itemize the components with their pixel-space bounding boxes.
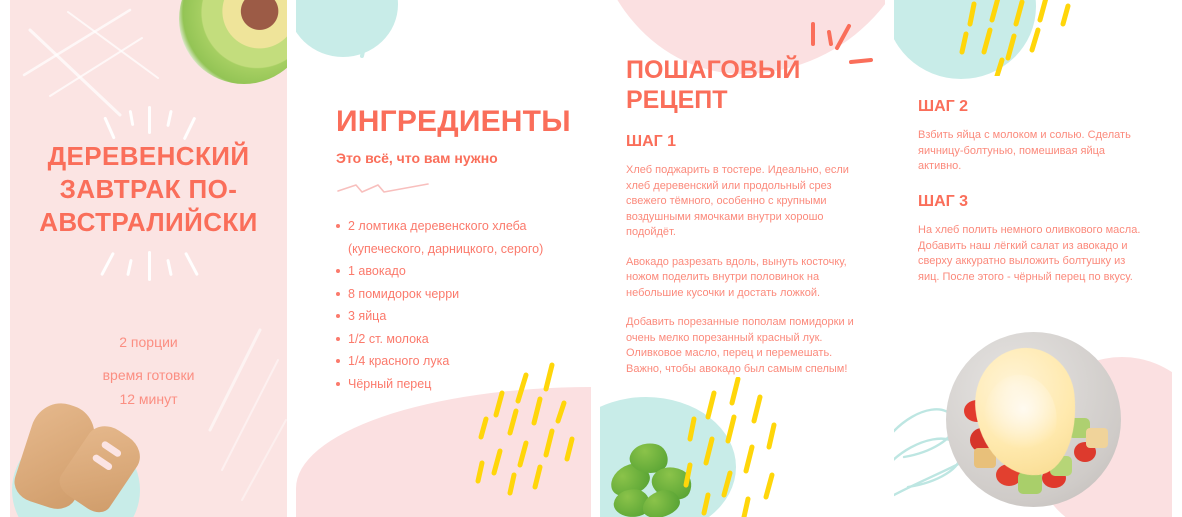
list-item: 2 ломтика деревенского хлеба — [336, 215, 574, 238]
list-item: 1 авокадо — [336, 260, 574, 283]
list-item-continuation: (купеческого, дарницкого, серого) — [336, 238, 574, 261]
panel-steps-2: ШАГ 2 Взбить яйца с молоком и солью. Сде… — [894, 0, 1172, 517]
burst-lines-bottom-icon — [78, 245, 218, 305]
yellow-dashes-icon — [950, 0, 1076, 76]
coral-dashes-icon — [795, 18, 879, 90]
steps-title-line-1: ПОШАГОВЫЙ — [626, 55, 800, 85]
list-item: 3 яйца — [336, 305, 574, 328]
avocado-piece — [1018, 472, 1042, 494]
steps-title: ПОШАГОВЫЙ РЕЦЕПТ — [626, 55, 800, 115]
cover-title-line-3: АВСТРАЛИЙСКИ — [24, 206, 273, 239]
panel-cover: ДЕРЕВЕНСКИЙ ЗАВТРАК ПО- АВСТРАЛИЙСКИ 2 п… — [10, 0, 287, 517]
step-3-heading: ШАГ 3 — [918, 193, 968, 211]
servings-text: 2 порции — [24, 330, 273, 354]
list-item: 8 помидорок черри — [336, 283, 574, 306]
steps-title-line-2: РЕЦЕПТ — [626, 85, 800, 115]
recipe-card-board: ДЕРЕВЕНСКИЙ ЗАВТРАК ПО- АВСТРАЛИЙСКИ 2 п… — [0, 0, 1182, 517]
scrambled-eggs-plate-photo — [946, 332, 1121, 507]
mint-stroke-icon — [356, 0, 406, 58]
list-item: 1/2 ст. молока — [336, 328, 574, 351]
step-2-body: Взбить яйца с молоком и солью. Сделать я… — [918, 128, 1148, 175]
cover-title-line-1: ДЕРЕВЕНСКИЙ — [24, 140, 273, 173]
step-1-body: Хлеб поджарить в тостере. Идеально, если… — [626, 163, 864, 377]
step-2-heading: ШАГ 2 — [918, 98, 968, 116]
panel-ingredients: ИНГРЕДИЕНТЫ Это всё, что вам нужно 2 лом… — [296, 0, 591, 517]
cover-title-line-2: ЗАВТРАК ПО- — [24, 173, 273, 206]
cover-title: ДЕРЕВЕНСКИЙ ЗАВТРАК ПО- АВСТРАЛИЙСКИ — [24, 140, 273, 239]
step-1-paragraph-1: Хлеб поджарить в тостере. Идеально, если… — [626, 163, 864, 241]
yellow-dashes-icon — [676, 377, 796, 517]
step-3-body: На хлеб полить немного оливкового масла.… — [918, 223, 1148, 285]
panel-steps-1: ПОШАГОВЫЙ РЕЦЕПТ ШАГ 1 Хлеб поджарить в … — [600, 0, 885, 517]
toast-piece — [1086, 428, 1108, 448]
step-1-paragraph-2: Авокадо разрезать вдоль, вынуть косточку… — [626, 255, 864, 302]
cook-time-label: время готовки — [24, 363, 273, 387]
ingredients-title: ИНГРЕДИЕНТЫ — [336, 105, 571, 139]
step-1-paragraph-3: Добавить порезанные пополам помидорки и … — [626, 315, 864, 377]
ingredients-subtitle: Это всё, что вам нужно — [336, 150, 498, 166]
step-1-heading: ШАГ 1 — [626, 133, 676, 151]
wooden-utensils-photo — [10, 393, 156, 517]
yellow-dashes-icon — [456, 359, 586, 499]
squiggle-divider-icon — [336, 182, 430, 196]
